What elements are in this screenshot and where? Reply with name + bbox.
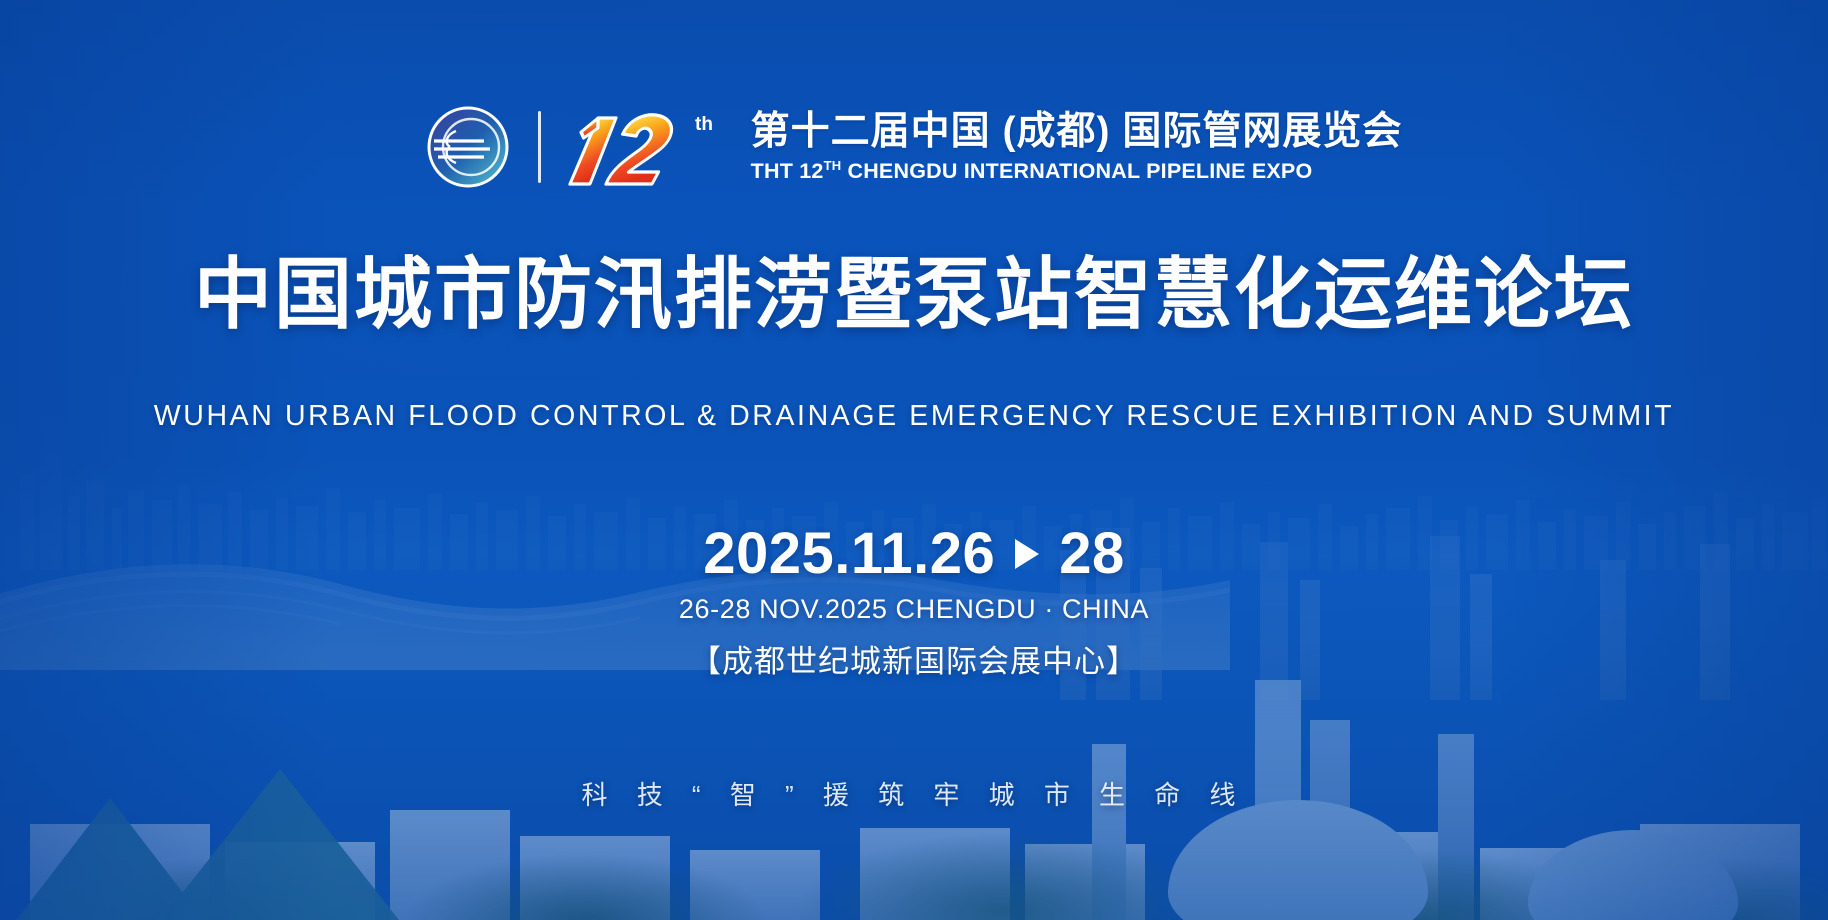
- expo-title-en: THT 12TH CHENGDU INTERNATIONAL PIPELINE …: [751, 158, 1403, 184]
- pipeline-network-circle-icon: [426, 105, 510, 189]
- expo-banner: th 第十二届中国 (成都) 国际管网展览会 THT 12TH CHENGDU …: [0, 0, 1828, 920]
- svg-text:th: th: [695, 114, 713, 135]
- event-date-start: 2025.11.26: [703, 520, 995, 587]
- expo-headline: 第十二届中国 (成都) 国际管网展览会 THT 12TH CHENGDU INT…: [751, 110, 1403, 184]
- event-venue: 【成都世纪城新国际会展中心】: [0, 636, 1828, 681]
- vertical-divider-icon: [538, 111, 541, 183]
- expo-title-cn: 第十二届中国 (成都) 国际管网展览会: [751, 112, 1403, 153]
- event-date-end: 28: [1059, 520, 1125, 587]
- main-title-cn: 中国城市防汛排涝暨泵站智慧化运维论坛: [0, 252, 1828, 336]
- event-date: 2025.11.26 28: [0, 520, 1828, 587]
- expo-title-en-prefix: THT 12: [751, 159, 824, 183]
- header-logo-row: th 第十二届中国 (成都) 国际管网展览会 THT 12TH CHENGDU …: [0, 104, 1828, 190]
- expo-title-en-rest: CHENGDU INTERNATIONAL PIPELINE EXPO: [841, 159, 1312, 183]
- expo-title-en-ordinal: TH: [824, 158, 842, 173]
- edition-number-12th-logo: th: [567, 104, 737, 190]
- banner-content: th 第十二届中国 (成都) 国际管网展览会 THT 12TH CHENGDU …: [0, 0, 1828, 920]
- footer-tagline: 科 技 “ 智 ” 援 筑 牢 城 市 生 命 线: [0, 775, 1828, 812]
- event-date-en: 26-28 NOV.2025 CHENGDU · CHINA: [0, 594, 1828, 625]
- main-title-en: WUHAN URBAN FLOOD CONTROL & DRAINAGE EME…: [0, 400, 1828, 433]
- play-triangle-icon: [1015, 539, 1039, 569]
